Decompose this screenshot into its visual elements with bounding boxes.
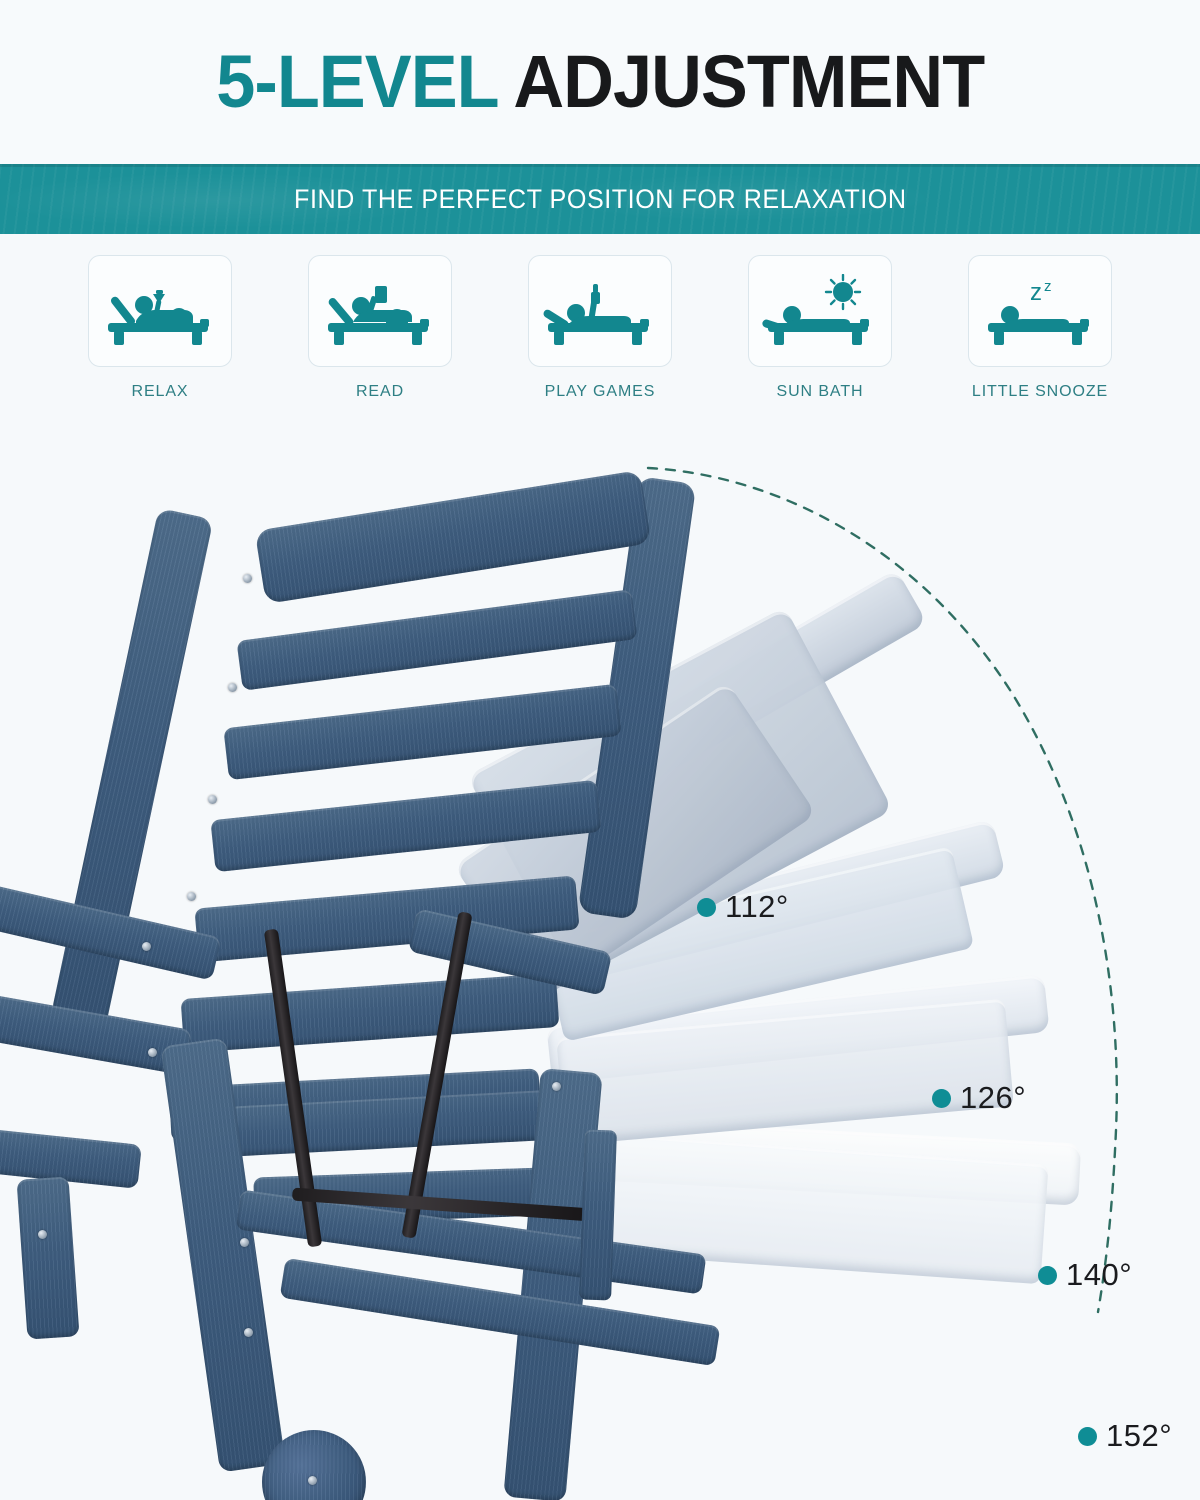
chair-screw xyxy=(244,1328,253,1337)
angle-marker-152: 152° xyxy=(1078,1418,1172,1454)
feature-label: SUN BATH xyxy=(777,383,864,401)
page-title-accent: 5-LEVEL xyxy=(216,40,497,123)
angle-dot-icon xyxy=(1038,1266,1057,1285)
chair-screw xyxy=(142,942,151,951)
chair-screw xyxy=(228,683,237,692)
angle-marker-140: 140° xyxy=(1038,1257,1132,1293)
feature-item-relax[interactable]: RELAX xyxy=(68,255,252,415)
lounger-person-drink-icon xyxy=(100,274,220,348)
angle-dot-icon xyxy=(1078,1427,1097,1446)
angle-marker-126: 126° xyxy=(932,1080,1026,1116)
lounger-person-sun-icon xyxy=(760,274,880,348)
feature-icon-box xyxy=(88,255,232,367)
feature-item-little-snooze[interactable]: z z LITTLE SNOOZE xyxy=(948,255,1132,415)
feature-label: PLAY GAMES xyxy=(545,383,656,401)
chair-screw xyxy=(38,1230,47,1239)
lounger-person-phone-icon xyxy=(540,274,660,348)
chair-recline-notch-bar xyxy=(579,1129,617,1300)
lounger-person-book-icon xyxy=(320,274,440,348)
header-title-bar: 5-LEVEL ADJUSTMENT xyxy=(0,0,1200,164)
feature-label: READ xyxy=(356,383,404,401)
feature-icon-box xyxy=(528,255,672,367)
feature-icon-box xyxy=(308,255,452,367)
subtitle-text: FIND THE PERFECT POSITION FOR RELAXATION xyxy=(294,184,906,215)
feature-label: RELAX xyxy=(132,383,189,401)
page-title-rest: ADJUSTMENT xyxy=(497,40,984,123)
angle-marker-112: 112° xyxy=(697,889,789,925)
page-title: 5-LEVEL ADJUSTMENT xyxy=(216,45,984,119)
feature-item-read[interactable]: READ xyxy=(288,255,472,415)
chair-screw xyxy=(148,1048,157,1057)
chair-wheel-screw xyxy=(308,1476,317,1485)
feature-icon-box: z z xyxy=(968,255,1112,367)
angle-label: 126° xyxy=(960,1080,1026,1116)
chair-screw xyxy=(240,1238,249,1247)
angle-label: 152° xyxy=(1106,1418,1172,1454)
angle-label: 140° xyxy=(1066,1257,1132,1293)
feature-icon-box xyxy=(748,255,892,367)
angle-label: 112° xyxy=(725,889,789,925)
chair-screw xyxy=(187,892,196,901)
feature-item-sun-bath[interactable]: SUN BATH xyxy=(728,255,912,415)
angle-dot-icon xyxy=(697,898,716,917)
chair-screw xyxy=(208,795,217,804)
feature-row: RELAX READ xyxy=(0,255,1200,415)
lounger-person-sleep-icon: z z xyxy=(980,274,1100,348)
recline-illustration: 112° 126° 140° 152° 180° xyxy=(0,430,1200,1500)
subtitle-band: FIND THE PERFECT POSITION FOR RELAXATION xyxy=(0,164,1200,234)
chair-screw xyxy=(552,1082,561,1091)
feature-item-play-games[interactable]: PLAY GAMES xyxy=(508,255,692,415)
svg-text:z: z xyxy=(1044,278,1052,295)
chair-screw xyxy=(243,574,252,583)
svg-text:z: z xyxy=(1030,279,1042,306)
angle-dot-icon xyxy=(932,1089,951,1108)
feature-label: LITTLE SNOOZE xyxy=(972,383,1108,401)
chair-base-leg-left xyxy=(16,1176,79,1339)
